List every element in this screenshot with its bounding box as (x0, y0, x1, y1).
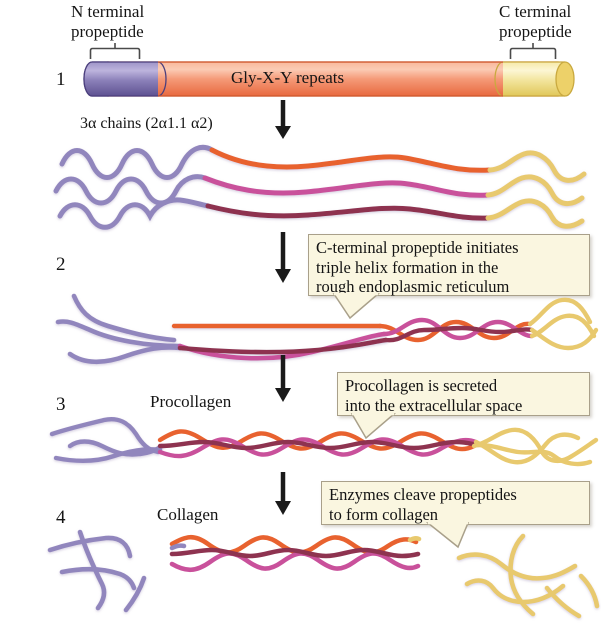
callout-3-text: Enzymes cleave propeptides to form colla… (329, 485, 582, 524)
collagen-synthesis-diagram: N terminal propeptide C terminal propept… (0, 0, 601, 625)
alpha-chains-group (50, 136, 595, 231)
label-n-terminal-propeptide: N terminal propeptide (71, 2, 144, 42)
step-number-4: 4 (56, 508, 66, 527)
collagen-triple-helix (170, 530, 420, 590)
arrow-1-to-2 (273, 100, 293, 140)
label-collagen: Collagen (157, 505, 218, 524)
label-gly-x-y-repeats: Gly-X-Y repeats (231, 68, 344, 87)
label-3-alpha-chains: 3α chains (2α1.1 α2) (80, 115, 213, 133)
callout-c-terminal-initiates: C-terminal propeptide initiates triple h… (308, 234, 590, 296)
partial-triple-helix (50, 292, 598, 370)
callout-procollagen-secreted: Procollagen is secreted into the extrace… (337, 372, 590, 416)
callout-2-text: Procollagen is secreted into the extrace… (345, 376, 582, 415)
label-procollagen: Procollagen (150, 392, 231, 411)
callout-enzymes-cleave: Enzymes cleave propeptides to form colla… (321, 481, 590, 525)
procollagen-triple-helix (48, 412, 598, 474)
step-number-2: 2 (56, 255, 66, 274)
arrow-3-to-4 (273, 355, 293, 403)
callout-1-text: C-terminal propeptide initiates triple h… (316, 238, 582, 297)
arrow-4-final (273, 472, 293, 516)
arrow-2-to-3 (273, 232, 293, 284)
cleaved-c-propeptides (455, 528, 600, 623)
label-c-terminal-propeptide: C terminal propeptide (499, 2, 572, 42)
cleaved-n-propeptides (44, 528, 174, 618)
step-number-1: 1 (56, 70, 66, 89)
